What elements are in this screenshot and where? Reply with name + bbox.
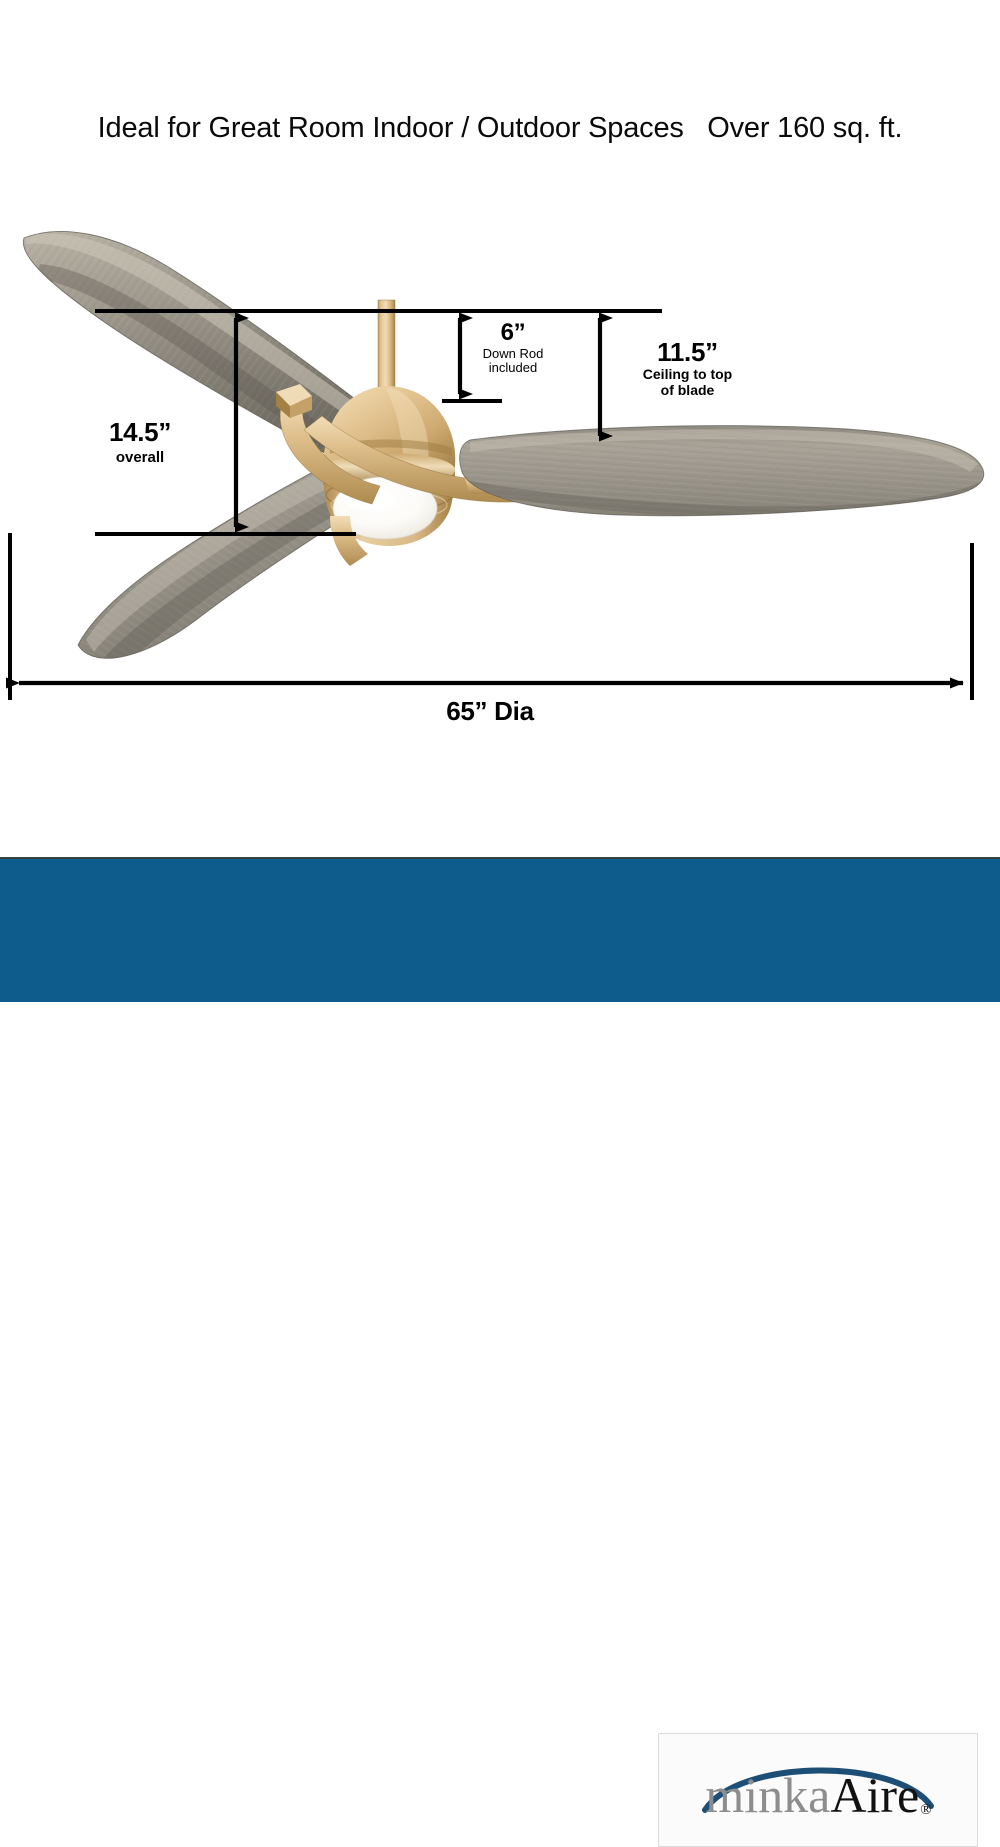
diameter-value: 65” Dia bbox=[360, 697, 620, 726]
registered-trademark-icon: ® bbox=[920, 1802, 931, 1818]
down-rod-label: 6” Down Rod included bbox=[438, 320, 588, 376]
ceiling-to-blade-value: 11.5” bbox=[600, 338, 775, 367]
minka-aire-logo: minkaAire® bbox=[658, 1733, 978, 1847]
logo-word-minka: minka bbox=[705, 1767, 830, 1823]
brand-banner: minkaAire® bbox=[0, 857, 1000, 1002]
diagram-page: Ideal for Great Room Indoor / Outdoor Sp… bbox=[0, 0, 1000, 1000]
down-rod-value: 6” bbox=[438, 320, 588, 347]
down-rod-caption-2: included bbox=[438, 361, 588, 376]
ceiling-to-blade-caption-2: of blade bbox=[600, 383, 775, 399]
diameter-label: 65” Dia bbox=[360, 697, 620, 726]
overall-height-value: 14.5” bbox=[60, 418, 220, 447]
logo-word-aire: Aire bbox=[830, 1767, 919, 1823]
down-rod-caption: Down Rod bbox=[438, 347, 588, 362]
overall-height-label: 14.5” overall bbox=[60, 418, 220, 467]
ceiling-to-blade-label: 11.5” Ceiling to top of blade bbox=[600, 338, 775, 398]
fan-illustration-stage: 14.5” overall 6” Down Rod included 11.5”… bbox=[0, 0, 1000, 860]
ceiling-to-blade-caption: Ceiling to top bbox=[600, 367, 775, 383]
logo-wordmark: minkaAire® bbox=[659, 1770, 977, 1820]
overall-height-caption: overall bbox=[60, 450, 220, 467]
